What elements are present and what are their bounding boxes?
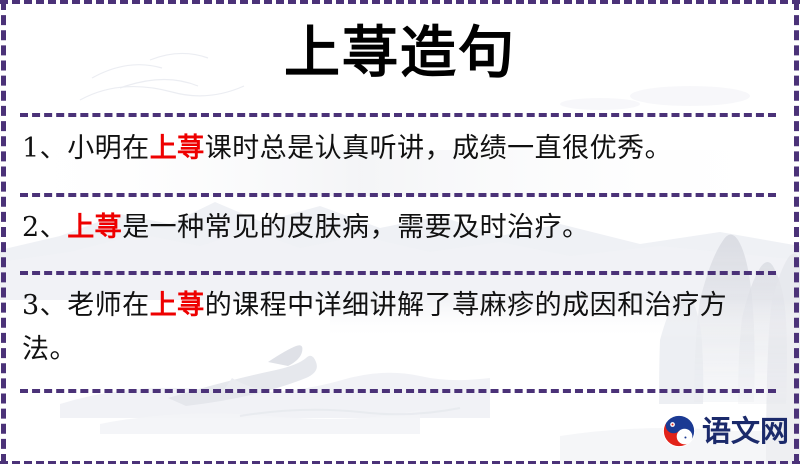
sentence-1-index: 1、 bbox=[22, 133, 67, 164]
sentence-1-keyword: 上荨 bbox=[150, 133, 205, 164]
sentence-1-suffix: 课时总是认真听讲，成绩一直很优秀。 bbox=[205, 133, 673, 164]
frame-border-right bbox=[794, 0, 799, 464]
sentence-row-3: 3、老师在上荨的课程中详细讲解了荨麻疹的成因和治疗方法。 bbox=[22, 284, 774, 372]
frame-border-top bbox=[0, 0, 800, 4]
sentence-3-keyword: 上荨 bbox=[150, 290, 205, 321]
sentence-row-1: 1、小明在上荨课时总是认真听讲，成绩一直很优秀。 bbox=[22, 127, 774, 171]
sentence-row-2: 2、上荨是一种常见的皮肤病，需要及时治疗。 bbox=[22, 206, 774, 250]
separator-after-sentence-3 bbox=[20, 389, 776, 393]
frame-border-left bbox=[1, 0, 6, 464]
sentence-3-prefix: 老师在 bbox=[67, 290, 150, 321]
site-logo[interactable]: 语文网 bbox=[662, 414, 789, 448]
sentence-2-suffix: 是一种常见的皮肤病，需要及时治疗。 bbox=[122, 212, 590, 243]
page-title: 上荨造句 bbox=[0, 18, 800, 88]
site-logo-text: 语文网 bbox=[702, 416, 789, 446]
sentence-2-keyword: 上荨 bbox=[67, 212, 122, 243]
yin-yang-fish-emblem-icon bbox=[662, 414, 696, 448]
slide-canvas: 上荨造句 1、小明在上荨课时总是认真听讲，成绩一直很优秀。 2、上荨是一种常见的… bbox=[0, 0, 800, 464]
separator-after-sentence-1 bbox=[20, 193, 776, 197]
separator-after-sentence-2 bbox=[20, 271, 776, 275]
sentence-2-index: 2、 bbox=[22, 212, 67, 243]
sentence-3-index: 3、 bbox=[22, 290, 67, 321]
sentence-1-prefix: 小明在 bbox=[67, 133, 150, 164]
separator-after-title bbox=[20, 113, 776, 117]
